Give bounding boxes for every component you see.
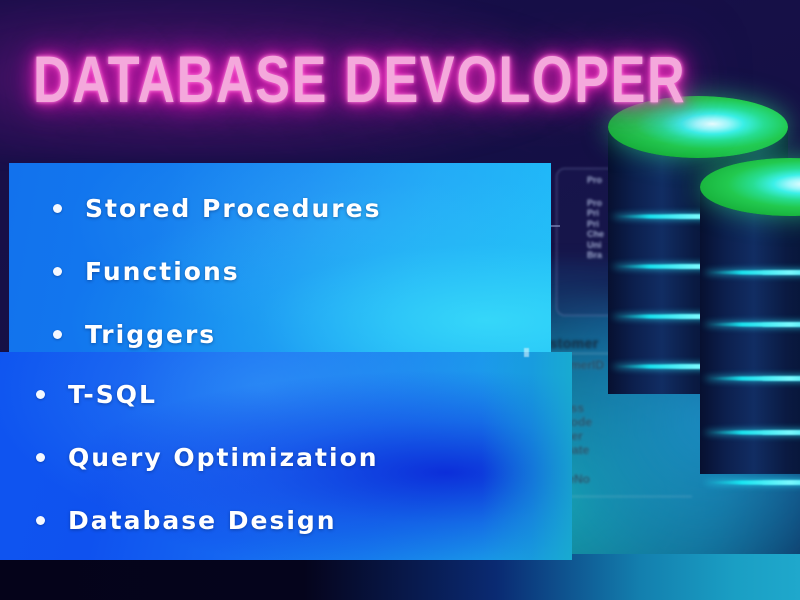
database-cylinder-front <box>700 158 800 498</box>
list-item: Triggers <box>53 319 551 349</box>
bullet-dot-icon <box>36 453 45 462</box>
list-item: T-SQL <box>36 379 572 409</box>
skills-panel-one: Stored Procedures Functions Triggers <box>9 163 551 355</box>
panel-edge-artifact <box>524 348 529 357</box>
bullet-dot-icon <box>36 516 45 525</box>
skill-label: Triggers <box>85 320 216 349</box>
list-item: Database Design <box>36 505 572 535</box>
bullet-dot-icon <box>53 267 62 276</box>
skills-panel-two: T-SQL Query Optimization Database Design <box>0 352 572 560</box>
poster-canvas: Pro Pro Pri Pri Che Uni Bra Customer Cus… <box>0 0 800 600</box>
skill-label: Query Optimization <box>68 443 379 472</box>
skill-label: Functions <box>85 257 240 286</box>
skill-label: Stored Procedures <box>85 194 381 223</box>
list-item: Query Optimization <box>36 442 572 472</box>
list-item: Stored Procedures <box>53 193 551 223</box>
bullet-dot-icon <box>53 330 62 339</box>
db-front-ring <box>704 480 800 485</box>
skills-list-two: T-SQL Query Optimization Database Design <box>0 352 572 535</box>
skill-label: Database Design <box>68 506 337 535</box>
bullet-dot-icon <box>36 390 45 399</box>
skills-list-one: Stored Procedures Functions Triggers <box>9 163 551 349</box>
bottom-strip <box>0 554 800 600</box>
page-title: DATABASE DEVOLOPER <box>33 48 686 114</box>
list-item: Functions <box>53 256 551 286</box>
bullet-dot-icon <box>53 204 62 213</box>
skill-label: T-SQL <box>68 380 157 409</box>
